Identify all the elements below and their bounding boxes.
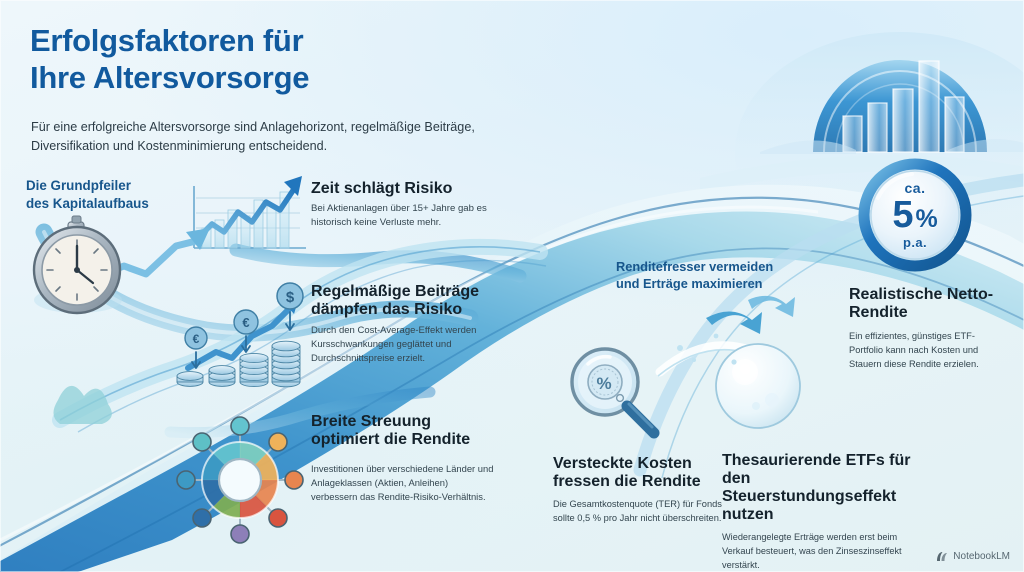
section-renditefresser-heading-line2: und Erträge maximieren xyxy=(616,276,831,293)
section-zeit-body: Bei Aktienanlagen über 15+ Jahre gab es … xyxy=(311,202,501,229)
section-streuung-heading-line1: Breite Streuung xyxy=(311,413,496,431)
return-badge-text: ca. 5% p.a. xyxy=(856,156,974,274)
section-renditefresser: Renditefresser vermeiden und Erträge max… xyxy=(616,259,831,293)
section-grundpfeiler-heading-line2: des Kapitalaufbaus xyxy=(26,195,206,213)
page-title-line2: Ihre Altersvorsorge xyxy=(30,59,590,96)
section-grundpfeiler-heading-line1: Die Grundpfeiler xyxy=(26,177,206,195)
diversification-wheel-icon xyxy=(177,417,303,543)
section-thesaurierende-body: Wiederangelegte Erträge werden erst beim… xyxy=(722,531,922,572)
infographic-canvas: € € $ xyxy=(0,0,1024,572)
svg-text:%: % xyxy=(596,374,611,393)
section-kosten-heading-line1: Versteckte Kosten xyxy=(553,455,728,473)
return-badge: ca. 5% p.a. xyxy=(856,156,974,274)
section-zeit: Zeit schlägt Risiko Bei Aktienanlagen üb… xyxy=(311,180,501,229)
section-thesaurierende-heading-line1: Thesaurierende ETFs für den xyxy=(722,452,922,488)
section-netto-rendite: Realistische Netto- Rendite Ein effizien… xyxy=(849,286,1009,371)
section-regelmaessige-body: Durch den Cost-Average-Effekt werden Kur… xyxy=(311,324,491,365)
section-regelmaessige-beitraege: Regelmäßige Beiträge dämpfen das Risiko … xyxy=(311,283,491,365)
badge-prefix: ca. xyxy=(905,181,926,195)
section-netto-heading-line2: Rendite xyxy=(849,304,1009,322)
page-title: Erfolgsfaktoren für Ihre Altersvorsorge xyxy=(30,22,590,96)
section-grundpfeiler: Die Grundpfeiler des Kapitalaufbaus xyxy=(26,177,206,212)
magnifier-percent-icon: % xyxy=(572,349,654,433)
section-netto-body: Ein effizientes, günstiges ETF-Portfolio… xyxy=(849,329,1009,371)
section-breite-streuung: Breite Streuung optimiert die Rendite In… xyxy=(311,413,496,504)
badge-suffix: p.a. xyxy=(903,236,927,249)
section-kosten-heading-line2: fressen die Rendite xyxy=(553,473,728,491)
section-kosten-body: Die Gesamtkostenquote (TER) für Fonds so… xyxy=(553,498,728,526)
section-streuung-heading-line2: optimiert die Rendite xyxy=(311,431,496,449)
section-streuung-body: Investitionen über verschiedene Länder u… xyxy=(311,462,496,504)
badge-value: 5 xyxy=(892,194,913,236)
page-subtitle: Für eine erfolgreiche Altersvorsorge sin… xyxy=(31,118,521,156)
snowball-icon xyxy=(658,296,800,428)
svg-text:€: € xyxy=(193,332,200,346)
section-netto-heading-line1: Realistische Netto- xyxy=(849,286,1009,304)
section-thesaurierende-heading-line2: Steuerstundungseffekt nutzen xyxy=(722,488,922,524)
notebooklm-logo-icon xyxy=(936,551,949,562)
notebooklm-watermark: NotebookLM xyxy=(936,551,1010,562)
page-title-line1: Erfolgsfaktoren für xyxy=(30,22,590,59)
section-regelmaessige-heading-line1: Regelmäßige Beiträge xyxy=(311,283,491,301)
section-zeit-heading: Zeit schlägt Risiko xyxy=(311,180,501,198)
notebooklm-watermark-label: NotebookLM xyxy=(953,551,1010,562)
svg-text:$: $ xyxy=(286,289,295,306)
section-renditefresser-heading-line1: Renditefresser vermeiden xyxy=(616,259,831,276)
section-versteckte-kosten: Versteckte Kosten fressen die Rendite Di… xyxy=(553,455,728,526)
badge-value-row: 5% xyxy=(892,196,937,235)
growth-chart-icon xyxy=(194,176,306,248)
badge-unit: % xyxy=(915,205,937,233)
section-thesaurierende-etfs: Thesaurierende ETFs für den Steuerstundu… xyxy=(722,452,922,572)
svg-text:€: € xyxy=(242,315,249,330)
section-regelmaessige-heading-line2: dämpfen das Risiko xyxy=(311,301,491,319)
